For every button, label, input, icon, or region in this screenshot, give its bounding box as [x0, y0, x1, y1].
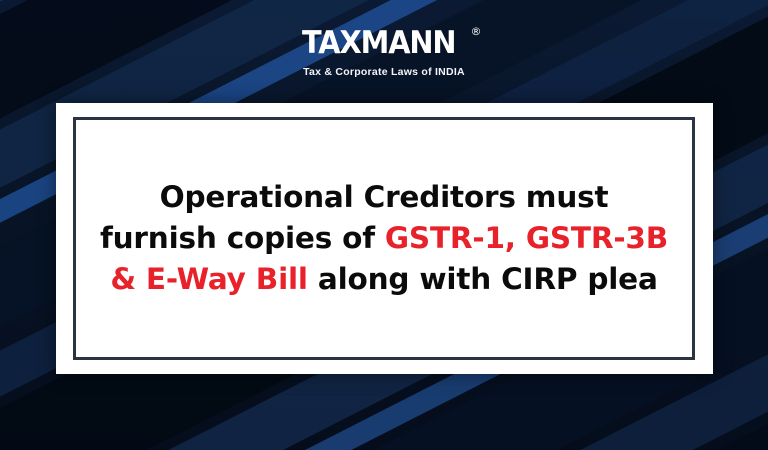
headline-segment-3-1: & E-Way Bill: [110, 262, 307, 296]
headline-line-2: furnish copies of GSTR-1, GSTR-3B: [100, 218, 668, 259]
headline-segment-2-2: GSTR-1, GSTR-3B: [385, 221, 668, 255]
headline-segment-1-1: Operational Creditors must: [160, 180, 609, 214]
headline-segment-2-1: furnish copies of: [100, 221, 385, 255]
promo-banner: TAXMANN ® Tax & Corporate Laws of INDIA …: [0, 0, 768, 450]
headline-text: Operational Creditors mustfurnish copies…: [94, 177, 674, 300]
headline-card: Operational Creditors mustfurnish copies…: [56, 103, 713, 374]
headline-line-1: Operational Creditors must: [100, 177, 668, 218]
headline-segment-3-2: along with CIRP plea: [308, 262, 658, 296]
headline-card-border: Operational Creditors mustfurnish copies…: [73, 117, 695, 360]
headline-line-3: & E-Way Bill along with CIRP plea: [100, 259, 668, 300]
